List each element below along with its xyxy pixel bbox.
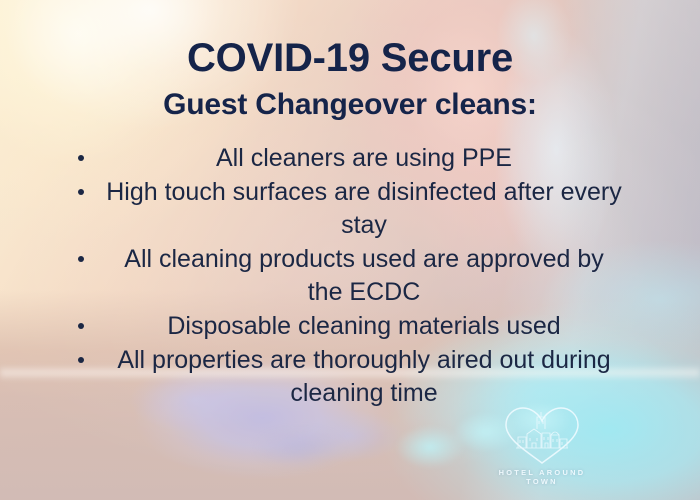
list-item: High touch surfaces are disinfected afte… xyxy=(70,176,630,242)
list-item: All cleaning products used are approved … xyxy=(70,243,630,309)
bullet-dot-icon xyxy=(78,189,84,195)
measures-list: All cleaners are using PPE High touch su… xyxy=(70,142,630,411)
poster-subtitle: Guest Changeover cleans: xyxy=(163,90,537,120)
bullet-dot-icon xyxy=(78,323,84,329)
list-item-label: Disposable cleaning materials used xyxy=(167,312,560,340)
list-item-label: All properties are thoroughly aired out … xyxy=(117,346,610,407)
bullet-dot-icon xyxy=(78,155,84,161)
list-item: All cleaners are using PPE xyxy=(70,142,630,175)
heart-cityscape-icon xyxy=(496,404,588,466)
list-item: All properties are thoroughly aired out … xyxy=(70,344,630,410)
list-item-label: All cleaning products used are approved … xyxy=(124,245,603,306)
list-item-label: All cleaners are using PPE xyxy=(216,144,512,172)
bullet-dot-icon xyxy=(78,256,84,262)
list-item: Disposable cleaning materials used xyxy=(70,310,630,343)
poster-title: COVID-19 Secure xyxy=(187,38,513,78)
list-item-label: High touch surfaces are disinfected afte… xyxy=(106,178,622,239)
brand-logo: HOTEL AROUND TOWN xyxy=(482,404,602,486)
covid-secure-poster: COVID-19 Secure Guest Changeover cleans:… xyxy=(0,0,700,500)
bullet-dot-icon xyxy=(78,357,84,363)
logo-wordmark: HOTEL AROUND TOWN xyxy=(482,468,602,486)
